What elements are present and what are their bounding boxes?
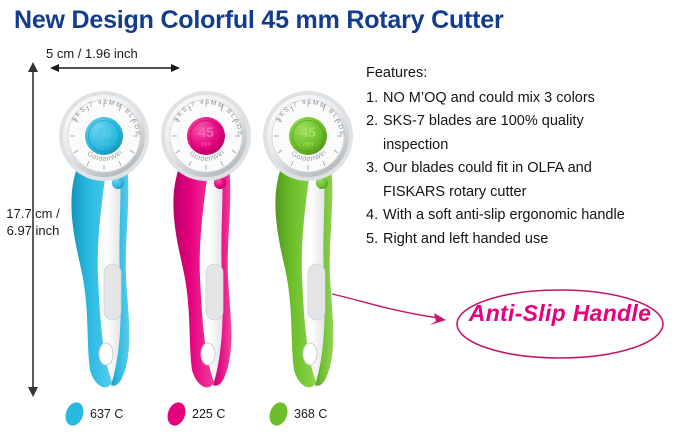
feature-text-2: SKS-7 blades are 100% quality (383, 110, 666, 134)
feature-number-1: 1. (366, 87, 383, 111)
color-swatch-row: 637 C 225 C 368 C (0, 400, 360, 436)
features-list: Features: 1. NO M’OQ and could mix 3 col… (366, 62, 666, 251)
feature-text-1: NO M’OQ and could mix 3 colors (383, 87, 666, 111)
swatch-cyan: 637 C (66, 402, 123, 426)
feature-item-3: 3. Our blades could fit in OLFA and (366, 157, 666, 181)
dial-center-number: 45 (300, 124, 316, 140)
feature-number-5: 5. (366, 228, 383, 252)
features-heading: Features: (366, 62, 666, 86)
swatch-dot-green (266, 400, 290, 428)
feature-item-2: 2. SKS-7 blades are 100% quality (366, 110, 666, 134)
width-dimension-label: 5 cm / 1.96 inch (46, 46, 138, 61)
callout-label: Anti-Slip Handle (455, 300, 665, 327)
dial-center-number: 45 (96, 124, 112, 140)
swatch-magenta: 225 C (168, 402, 225, 426)
dial-center-number: 45 (198, 124, 214, 140)
width-dimension-arrow-icon (50, 62, 180, 74)
dial-center-unit: mm (303, 142, 313, 148)
page-title: New Design Colorful 45 mm Rotary Cutter (14, 6, 504, 35)
green-rotary-cutter: SKS-7 45MM BLADE GoldenWei 45 mm (250, 78, 366, 398)
swatch-green: 368 C (270, 402, 327, 426)
feature-item-4: 4. With a soft anti-slip ergonomic handl… (366, 204, 666, 228)
feature-text-2-cont: inspection (366, 134, 666, 158)
feature-number-4: 4. (366, 204, 383, 228)
feature-item-1: 1. NO M’OQ and could mix 3 colors (366, 87, 666, 111)
feature-text-3: Our blades could fit in OLFA and (383, 157, 666, 181)
swatch-dot-magenta (164, 400, 188, 428)
feature-text-4: With a soft anti-slip ergonomic handle (383, 204, 666, 228)
magenta-rotary-cutter: SKS-7 45MM BLADE GoldenWei 45 mm (148, 78, 264, 398)
feature-item-5: 5. Right and left handed use (366, 228, 666, 252)
feature-text-3-cont: FISKARS rotary cutter (366, 181, 666, 205)
feature-number-3: 3. (366, 157, 383, 181)
swatch-dot-cyan (62, 400, 86, 428)
swatch-label-magenta: 225 C (192, 407, 225, 421)
swatch-label-cyan: 637 C (90, 407, 123, 421)
cyan-rotary-cutter: SKS-7 45MM BLADE GoldenWei 45 mm (46, 78, 162, 398)
feature-number-2: 2. (366, 110, 383, 134)
swatch-label-green: 368 C (294, 407, 327, 421)
callout-arrow-icon (330, 288, 462, 328)
feature-text-5: Right and left handed use (383, 228, 666, 252)
dial-center-unit: mm (201, 142, 211, 148)
dial-center-unit: mm (99, 142, 109, 148)
